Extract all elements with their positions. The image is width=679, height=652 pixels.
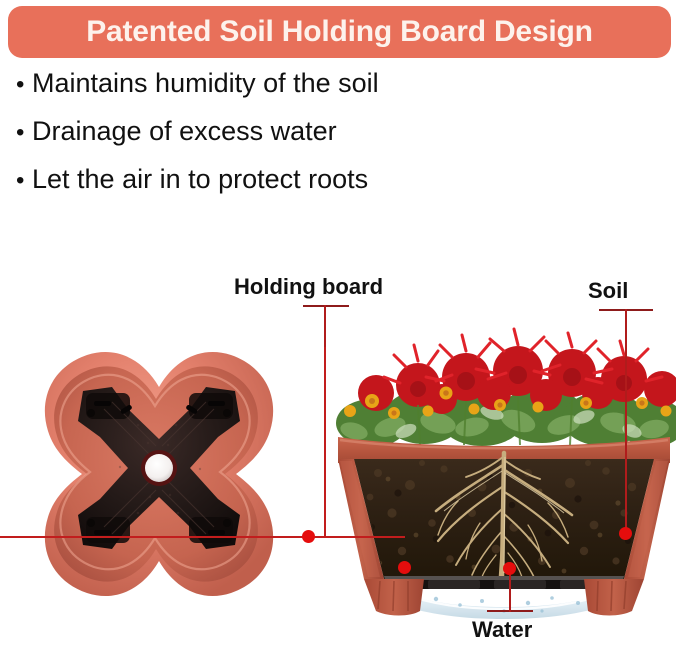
marker-dot-water (503, 562, 516, 575)
feature-text: Let the air in to protect roots (32, 166, 368, 193)
header-banner: Patented Soil Holding Board Design (8, 6, 671, 58)
feature-list: • Maintains humidity of the soil • Drain… (16, 70, 616, 214)
water-reservoir (388, 589, 620, 619)
leader-stem-holding-board (324, 305, 326, 347)
callout-label-water: Water (472, 617, 532, 643)
list-item: • Maintains humidity of the soil (16, 70, 616, 118)
soil-layer (354, 453, 654, 579)
holding-board-connector-vertical (324, 345, 326, 537)
list-item: • Drainage of excess water (16, 118, 616, 166)
list-item: • Let the air in to protect roots (16, 166, 616, 214)
leader-stem-soil (625, 309, 627, 533)
four-lobe-planter-top-view (8, 347, 310, 622)
bullet-icon: • (16, 121, 32, 145)
feature-text: Drainage of excess water (32, 118, 337, 145)
drain-hole (141, 450, 177, 486)
callout-label-soil: Soil (588, 278, 628, 304)
marker-dot-holding-board (398, 561, 411, 574)
bullet-icon: • (16, 169, 32, 193)
infographic-root: Patented Soil Holding Board Design • Mai… (0, 0, 679, 652)
leader-bar-holding-board (303, 305, 349, 307)
holding-board-connector-horizontal (0, 536, 405, 538)
callout-label-holding-board: Holding board (234, 274, 383, 300)
feature-text: Maintains humidity of the soil (32, 70, 379, 97)
marker-dot-board-left-photo (302, 530, 315, 543)
bullet-icon: • (16, 73, 32, 97)
page-title: Patented Soil Holding Board Design (86, 17, 593, 47)
product-diagram: Holding board Soil Water (0, 255, 679, 652)
marker-dot-soil (619, 527, 632, 540)
